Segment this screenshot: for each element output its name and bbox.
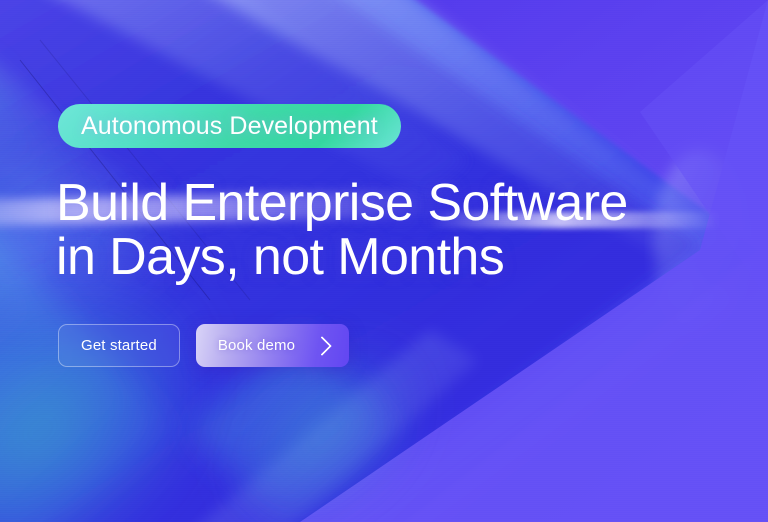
book-demo-label: Book demo [218,337,295,354]
page-title: Build Enterprise Software in Days, not M… [56,176,628,284]
book-demo-button[interactable]: Book demo [196,324,349,367]
cta-button-group: Get started Book demo [58,324,349,367]
hero-badge[interactable]: Autonomous Development [58,104,401,148]
hero-badge-label: Autonomous Development [81,112,378,141]
chevron-right-icon [312,336,332,356]
get-started-button[interactable]: Get started [58,324,180,367]
hero-content: Autonomous Development Build Enterprise … [56,0,716,522]
headline-line-1: Build Enterprise Software [56,176,628,230]
get-started-label: Get started [81,337,157,354]
hero-section: Autonomous Development Build Enterprise … [0,0,768,522]
headline-line-2: in Days, not Months [56,230,628,284]
